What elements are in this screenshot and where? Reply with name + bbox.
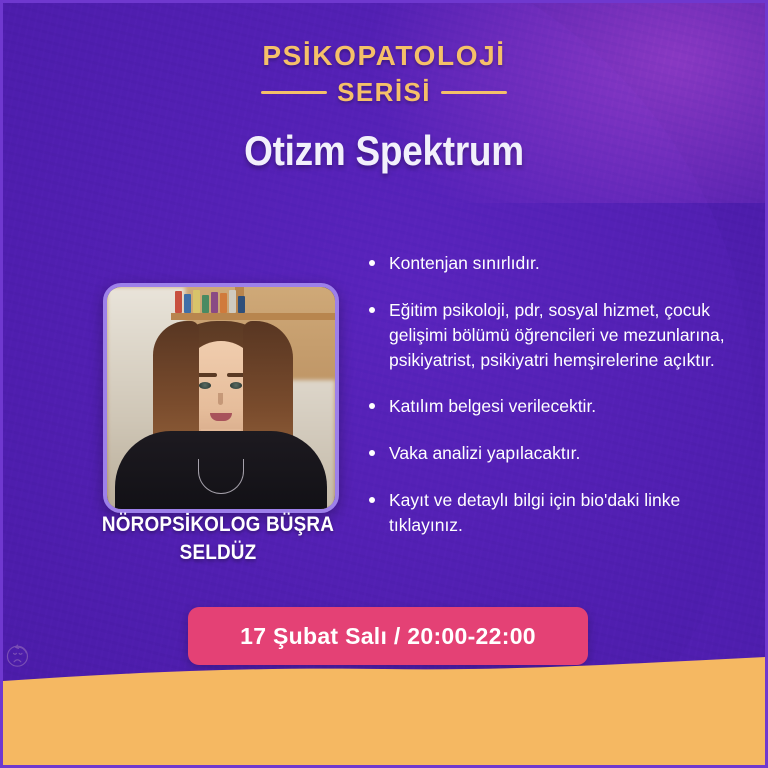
portrait-nose (218, 393, 223, 405)
list-item: Vaka analizi yapılacaktır. (369, 441, 741, 466)
speaker-portrait-image (107, 287, 335, 509)
series-subtitle-row: SERİSİ (3, 77, 765, 108)
speaker-photo (103, 283, 339, 513)
bookshelf-plank-top (171, 313, 335, 320)
details-list: Kontenjan sınırlıdır. Eğitim psikoloji, … (369, 251, 741, 538)
list-item-label: Eğitim psikoloji, pdr, sosyal hizmet, ço… (389, 298, 741, 373)
page-title: Otizm Spektrum (49, 127, 720, 175)
speaker-name: NÖROPSİKOLOG BÜŞRA SELDÜZ (79, 511, 358, 566)
bullet-dot-icon (369, 307, 375, 313)
series-subtitle: SERİSİ (337, 77, 431, 108)
portrait-eye-right (230, 382, 242, 389)
books-row (175, 289, 245, 313)
bullet-dot-icon (369, 260, 375, 266)
list-item-label: Kayıt ve detaylı bilgi için bio'daki lin… (389, 488, 741, 538)
series-title: PSİKOPATOLOJİ (3, 41, 765, 70)
happy-sad-faces-logo (0, 641, 384, 671)
list-item: Kayıt ve detaylı bilgi için bio'daki lin… (369, 488, 741, 538)
bullet-dot-icon (369, 450, 375, 456)
rule-left (261, 91, 327, 94)
list-item-label: Katılım belgesi verilecektir. (389, 394, 741, 419)
rule-right (441, 91, 507, 94)
list-item: Eğitim psikoloji, pdr, sosyal hizmet, ço… (369, 298, 741, 373)
portrait-eye-left (199, 382, 211, 389)
psikopatoloji-seminar-poster: PSİKOPATOLOJİ SERİSİ Otizm Spektrum (0, 0, 768, 768)
list-item-label: Vaka analizi yapılacaktır. (389, 441, 741, 466)
bullet-dot-icon (369, 497, 375, 503)
series-header: PSİKOPATOLOJİ SERİSİ (3, 41, 765, 108)
list-item: Kontenjan sınırlıdır. (369, 251, 741, 276)
bullet-dot-icon (369, 403, 375, 409)
list-item: Katılım belgesi verilecektir. (369, 394, 741, 419)
portrait-brow-left (197, 373, 217, 377)
list-item-label: Kontenjan sınırlıdır. (389, 251, 741, 276)
footer-band (3, 681, 765, 765)
